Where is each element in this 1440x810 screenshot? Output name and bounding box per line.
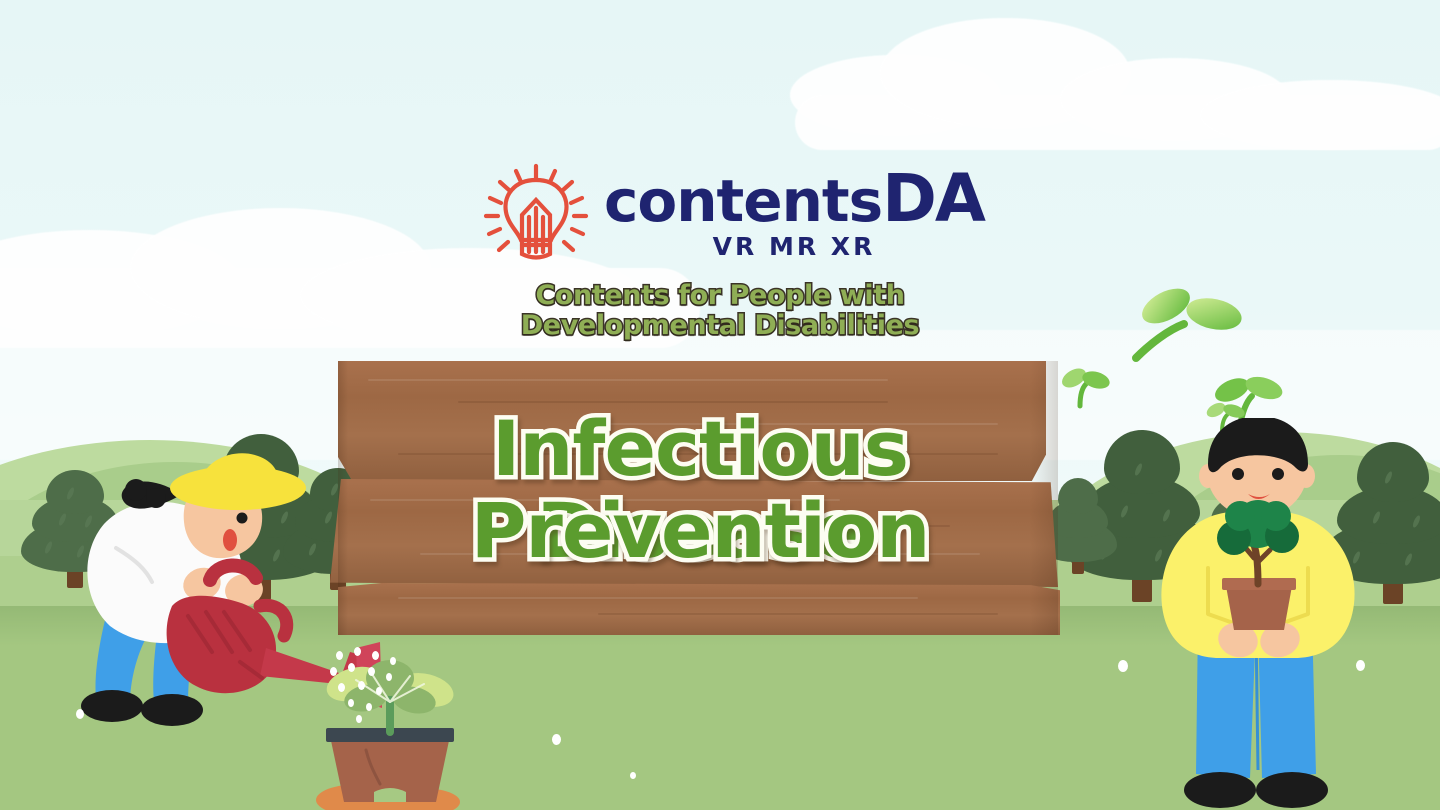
character-holding-sapling <box>1140 418 1390 810</box>
sign-plank-bottom <box>338 583 1060 635</box>
water-droplets <box>318 645 438 735</box>
floating-sprout-small-left <box>1056 362 1112 410</box>
page-title-line-2: Prevention <box>330 490 1070 572</box>
floating-sprout-large <box>1128 278 1248 368</box>
title-card-scene: contentsDA VR MR XR Contents for People … <box>0 0 1440 810</box>
